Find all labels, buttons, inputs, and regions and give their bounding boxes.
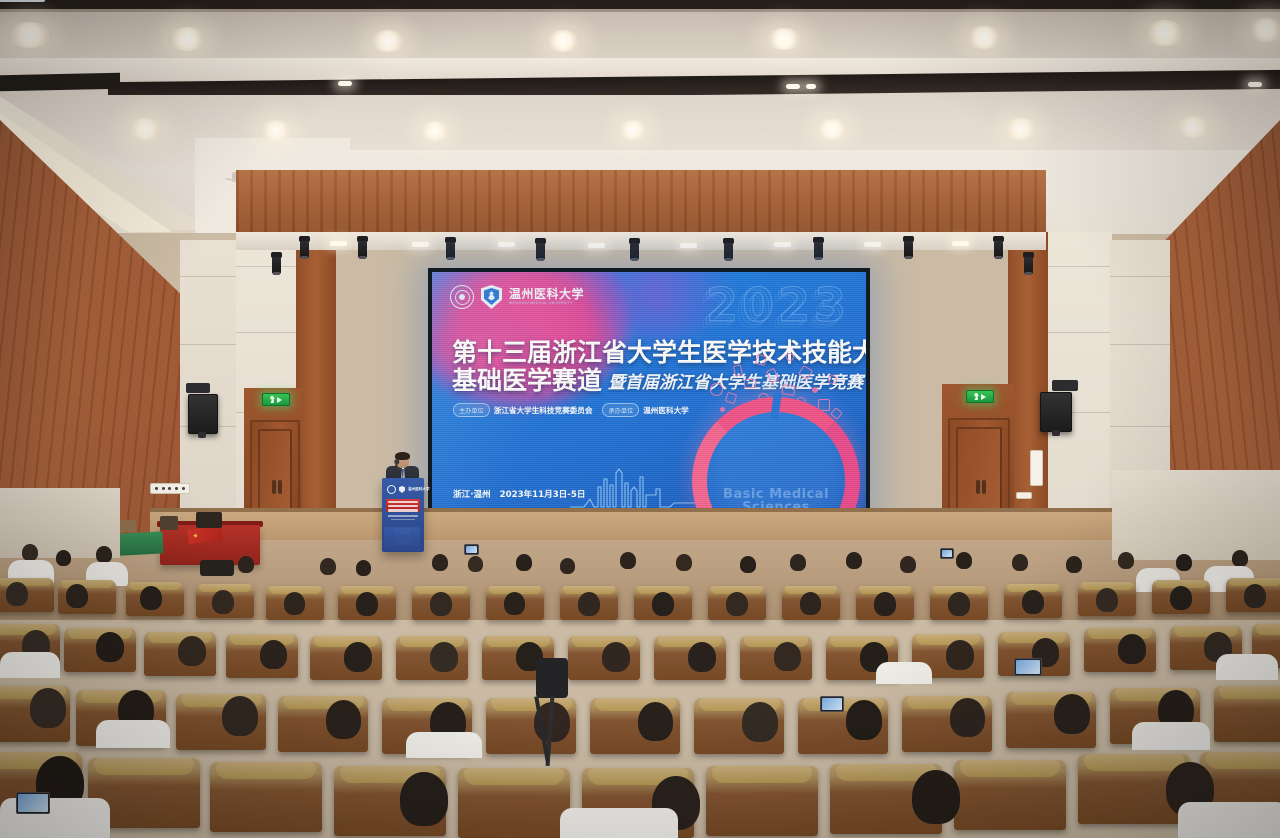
audience-seating: [0, 540, 1280, 838]
audience-white-coat: [560, 808, 678, 838]
audience-head: [774, 642, 801, 671]
audience-white-coat: [1132, 722, 1210, 750]
audience-head: [900, 556, 916, 573]
audience-head: [468, 556, 483, 572]
table-item-bag: [160, 516, 178, 530]
event-title-line2-main: 基础医学赛道: [452, 368, 602, 394]
audience-head: [212, 590, 234, 614]
stage-spotlight-side-right: [1022, 252, 1035, 278]
podium-logo: 温州医科大学: [387, 485, 430, 494]
year-watermark: 2023: [706, 278, 850, 332]
stage-spotlight: [444, 237, 457, 263]
stage-spotlight-side-left: [270, 252, 283, 278]
audience-white-coat: [406, 732, 482, 758]
audience-head: [238, 556, 254, 573]
audience-head: [790, 554, 806, 571]
audience-head: [950, 698, 985, 737]
wall-outlet-left[interactable]: [150, 483, 190, 494]
audience-head: [912, 770, 960, 824]
table-item-dark: [196, 512, 222, 528]
audience-head: [516, 554, 532, 571]
audience-head: [344, 642, 372, 672]
audience-head: [430, 642, 458, 672]
led-screen: 2023 2023 2023 温州医科大学 WENZHOU MEDICAL UN…: [428, 268, 870, 523]
audience-head: [1244, 584, 1266, 608]
audience-head: [432, 554, 448, 571]
podium-subline-2: [391, 519, 415, 520]
audience-white-coat: [1178, 802, 1280, 838]
speaker-left: [188, 394, 218, 434]
ceiling-downlight: [8, 22, 52, 48]
soffit-light: [952, 241, 969, 246]
event-location: 浙江·温州: [453, 488, 491, 500]
audience-head: [1054, 694, 1090, 734]
camera-tripod: [536, 658, 568, 698]
audience-head: [178, 636, 206, 666]
exit-sign-icon-left: [262, 393, 290, 406]
audience-head: [356, 560, 371, 576]
screen-logo-row: 温州医科大学 WENZHOU MEDICAL UNIVERSITY: [450, 285, 584, 309]
audience-head: [1232, 550, 1248, 567]
audience-head: [140, 586, 162, 610]
podium-seal-icon: [387, 485, 396, 494]
audience-head: [638, 702, 673, 741]
organizer-host-badge: 主办单位: [453, 403, 490, 417]
basic-medical-sciences-ring: Basic Medical Sciences: [692, 397, 860, 519]
university-seal-icon: [450, 285, 474, 309]
auditorium-photo: 2023 2023 2023 温州医科大学 WENZHOU MEDICAL UN…: [0, 0, 1280, 838]
audience-head: [1176, 554, 1192, 571]
ceiling-recessed-slot-left: [0, 73, 120, 92]
stage-spotlight: [628, 238, 641, 264]
exit-sign-icon-right: [966, 390, 994, 403]
stage-spotlight: [298, 236, 311, 262]
university-name-cn: 温州医科大学: [509, 288, 584, 300]
ceiling-downlight: [1144, 20, 1186, 46]
soffit-light: [864, 242, 881, 247]
audience-head: [846, 552, 862, 569]
organizer-coorganizer: 承办单位 温州医科大学: [602, 403, 688, 417]
ceiling-downlight: [128, 118, 162, 140]
auditorium-seat[interactable]: [210, 762, 322, 832]
table-item-box: [120, 520, 136, 532]
soffit-light: [330, 241, 347, 246]
phone-recording[interactable]: [16, 792, 50, 814]
wood-band-above-screen: [236, 170, 1046, 232]
podium-shield-icon: [399, 486, 405, 493]
audience-head: [284, 592, 305, 615]
ceiling-downlight: [966, 26, 1002, 49]
audience-head: [1022, 590, 1044, 614]
audience-head: [1096, 588, 1118, 612]
audience-head: [742, 702, 778, 742]
audience-head: [504, 592, 525, 615]
soffit-light: [498, 242, 515, 247]
soffit-light: [588, 243, 605, 248]
audience-head: [676, 554, 692, 571]
phone-recording[interactable]: [940, 548, 954, 559]
audience-head: [430, 592, 452, 616]
ceiling-downlight: [260, 120, 292, 141]
slot-light: [806, 84, 816, 89]
auditorium-seat[interactable]: [706, 766, 818, 836]
soffit-light: [774, 242, 791, 247]
audience-head: [6, 582, 28, 606]
ceiling-downlight: [766, 28, 802, 50]
audience-head: [740, 556, 756, 573]
soffit-light: [412, 242, 429, 247]
audience-head: [56, 550, 71, 566]
led-screen-content: 2023 2023 2023 温州医科大学 WENZHOU MEDICAL UN…: [432, 272, 866, 519]
speaker-right: [1040, 392, 1072, 432]
audience-head: [66, 584, 88, 608]
audience-head: [946, 640, 974, 670]
ceiling-downlight: [816, 119, 848, 140]
audience-head: [1118, 552, 1134, 569]
audience-head: [326, 700, 361, 739]
audience-head: [222, 696, 258, 736]
wood-column-left: [296, 232, 336, 517]
wall-notice-plate: [1030, 450, 1043, 486]
ceiling-downlight: [546, 30, 580, 52]
ceiling-downlight: [370, 30, 406, 52]
ceiling-downlight: [420, 121, 450, 141]
audience-head: [652, 592, 674, 616]
audience-white-coat: [96, 720, 170, 748]
organizer-host: 主办单位 浙江省大学生科技竞赛委员会: [453, 403, 592, 417]
podium-banner: [386, 499, 420, 512]
organizer-host-name: 浙江省大学生科技竞赛委员会: [494, 405, 593, 416]
audience-head: [400, 772, 448, 826]
ceiling-downlight: [618, 120, 648, 140]
university-shield-icon: [481, 285, 502, 309]
auditorium-seat[interactable]: [458, 768, 570, 838]
stage-spotlight: [812, 237, 825, 263]
audience-white-coat: [1216, 654, 1278, 680]
audience-head: [846, 700, 882, 740]
podium-university-name: 温州医科大学: [408, 487, 430, 492]
ceiling-downlight: [168, 27, 206, 51]
organizer-coorganizer-badge: 承办单位: [602, 403, 639, 417]
audience-head: [1012, 554, 1028, 571]
organizer-row: 主办单位 浙江省大学生科技竞赛委员会 承办单位 温州医科大学: [453, 403, 689, 417]
audience-head: [260, 640, 287, 669]
audience-head: [948, 592, 970, 616]
stage-spotlight: [902, 236, 915, 262]
location-date-row: 浙江·温州 2023年11月3日-5日: [453, 488, 585, 500]
audience-head: [30, 688, 66, 728]
soffit-light: [680, 243, 697, 248]
audience-head: [320, 558, 336, 575]
phone-recording[interactable]: [1014, 658, 1042, 676]
flag-star-icon: [193, 533, 199, 539]
audience-head: [602, 642, 630, 672]
stage-spotlight: [722, 238, 735, 264]
audience-head: [578, 592, 600, 616]
podium-top: [0, 0, 45, 2]
slot-light: [1248, 82, 1262, 87]
audience-head: [96, 632, 124, 662]
audience-head: [1066, 556, 1082, 573]
podium-subline-1: [388, 515, 418, 517]
audience-white-coat: [0, 652, 60, 678]
auditorium-seat[interactable]: [1214, 686, 1280, 742]
audience-head: [620, 552, 636, 569]
university-name-block: 温州医科大学 WENZHOU MEDICAL UNIVERSITY: [509, 288, 584, 305]
speaker-bracket-right-lower: [1052, 430, 1060, 436]
ceiling-downlight: [1176, 116, 1210, 138]
audience-head: [356, 592, 378, 616]
auditorium-seat[interactable]: [954, 760, 1066, 830]
phone-recording[interactable]: [464, 544, 479, 555]
audience-head: [956, 552, 972, 569]
audience-head: [560, 558, 575, 574]
slot-light: [786, 84, 800, 89]
organizer-coorganizer-name: 温州医科大学: [643, 405, 689, 416]
stage-spotlight: [992, 236, 1005, 262]
audience-head: [1170, 586, 1192, 610]
stage-spotlight: [534, 238, 547, 264]
speaker-bracket-right: [1052, 380, 1078, 391]
ceiling-dark-band: [0, 0, 1280, 9]
ceiling-downlight: [1248, 18, 1280, 42]
ceiling-downlight: [1004, 118, 1038, 140]
stage-spotlight: [356, 236, 369, 262]
slot-light: [338, 81, 352, 86]
audience-white-coat: [876, 662, 932, 684]
audience-head: [22, 544, 38, 561]
audience-head: [874, 592, 896, 616]
audience-head: [96, 546, 112, 563]
speaker-bracket-left: [186, 383, 210, 393]
audience-head: [726, 592, 748, 616]
audience-head: [800, 592, 821, 615]
audience-head: [1118, 634, 1146, 664]
audience-head: [688, 642, 716, 672]
university-name-en: WENZHOU MEDICAL UNIVERSITY: [509, 302, 584, 305]
wall-switch-plate-right[interactable]: [1016, 492, 1032, 499]
phone-recording[interactable]: [820, 696, 844, 712]
speaker-bracket-left-lower: [198, 432, 206, 438]
